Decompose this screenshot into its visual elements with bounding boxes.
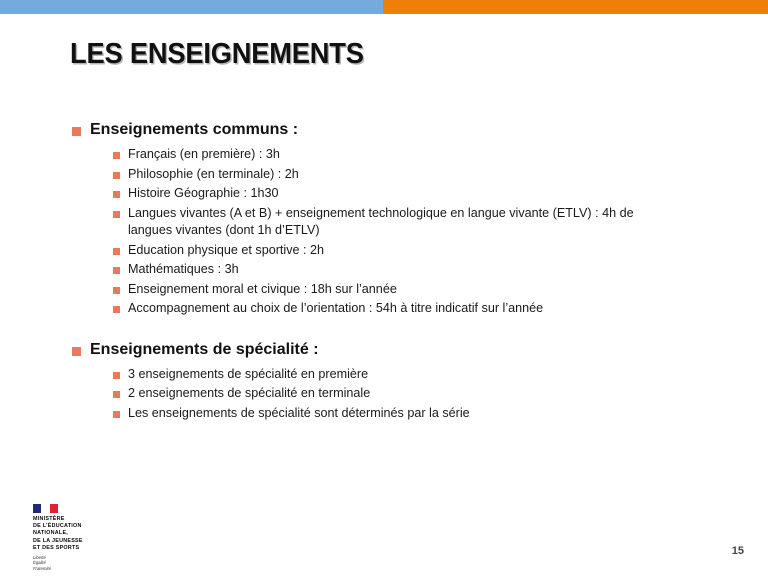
section-item-list: 3 enseignements de spécialité en premièr… <box>0 366 768 423</box>
list-item: Langues vivantes (A et B) + enseignement… <box>113 205 768 240</box>
square-bullet-icon <box>72 127 81 136</box>
list-item-label: Les enseignements de spécialité sont dét… <box>128 405 470 423</box>
list-item-label: Enseignement moral et civique : 18h sur … <box>128 281 397 299</box>
square-bullet-icon <box>113 411 120 418</box>
section-enseignements-communs: Enseignements communs : Français (en pre… <box>0 120 768 318</box>
slide-title: LES ENSEIGNEMENTS <box>70 40 364 69</box>
square-bullet-icon <box>113 287 120 294</box>
square-bullet-icon <box>72 347 81 356</box>
list-item: Mathématiques : 3h <box>113 261 768 279</box>
square-bullet-icon <box>113 211 120 218</box>
ministry-name-line: DE LA JEUNESSE <box>33 538 113 545</box>
header-decoration-bar <box>0 0 768 14</box>
ministry-name-line: DE L’ÉDUCATION <box>33 523 113 530</box>
ministry-name-text: MINISTÈRE DE L’ÉDUCATION NATIONALE, DE L… <box>33 516 113 552</box>
list-item: 3 enseignements de spécialité en premièr… <box>113 366 768 384</box>
ministry-name-line: NATIONALE, <box>33 530 113 537</box>
list-item-label: 2 enseignements de spécialité en termina… <box>128 385 370 403</box>
list-item-label: Langues vivantes (A et B) + enseignement… <box>128 205 664 240</box>
list-item-label: 3 enseignements de spécialité en premièr… <box>128 366 368 384</box>
square-bullet-icon <box>113 152 120 159</box>
header-bar-blue-segment <box>0 0 383 14</box>
flag-band-blue <box>33 504 41 513</box>
page-number: 15 <box>732 545 744 557</box>
list-item-label: Histoire Géographie : 1h30 <box>128 185 279 203</box>
list-item: Education physique et sportive : 2h <box>113 242 768 260</box>
square-bullet-icon <box>113 172 120 179</box>
section-heading-row: Enseignements communs : <box>0 120 768 140</box>
slide-content: Enseignements communs : Français (en pre… <box>0 120 768 424</box>
list-item: Accompagnement au choix de l’orientation… <box>113 300 768 318</box>
french-flag-icon <box>33 504 58 513</box>
list-item: Français (en première) : 3h <box>113 146 768 164</box>
list-item-label: Mathématiques : 3h <box>128 261 239 279</box>
list-item-label: Accompagnement au choix de l’orientation… <box>128 300 543 318</box>
list-item: Enseignement moral et civique : 18h sur … <box>113 281 768 299</box>
list-item: Philosophie (en terminale) : 2h <box>113 166 768 184</box>
flag-band-red <box>50 504 58 513</box>
section-heading-label: Enseignements communs : <box>90 120 298 140</box>
list-item: Les enseignements de spécialité sont dét… <box>113 405 768 423</box>
list-item: Histoire Géographie : 1h30 <box>113 185 768 203</box>
list-item-label: Français (en première) : 3h <box>128 146 280 164</box>
square-bullet-icon <box>113 306 120 313</box>
section-heading-label: Enseignements de spécialité : <box>90 340 319 360</box>
square-bullet-icon <box>113 372 120 379</box>
section-item-list: Français (en première) : 3h Philosophie … <box>0 146 768 318</box>
section-enseignements-specialite: Enseignements de spécialité : 3 enseigne… <box>0 340 768 423</box>
list-item: 2 enseignements de spécialité en termina… <box>113 385 768 403</box>
list-item-label: Education physique et sportive : 2h <box>128 242 324 260</box>
square-bullet-icon <box>113 248 120 255</box>
square-bullet-icon <box>113 191 120 198</box>
square-bullet-icon <box>113 391 120 398</box>
header-bar-orange-segment <box>383 0 768 14</box>
section-heading-row: Enseignements de spécialité : <box>0 340 768 360</box>
ministry-logo: MINISTÈRE DE L’ÉDUCATION NATIONALE, DE L… <box>33 504 113 571</box>
ministry-name-line: ET DES SPORTS <box>33 545 113 552</box>
republic-motto-text: Liberté Égalité Fraternité <box>33 555 113 571</box>
flag-band-white <box>41 504 49 513</box>
motto-line: Fraternité <box>33 566 113 571</box>
list-item-label: Philosophie (en terminale) : 2h <box>128 166 299 184</box>
square-bullet-icon <box>113 267 120 274</box>
